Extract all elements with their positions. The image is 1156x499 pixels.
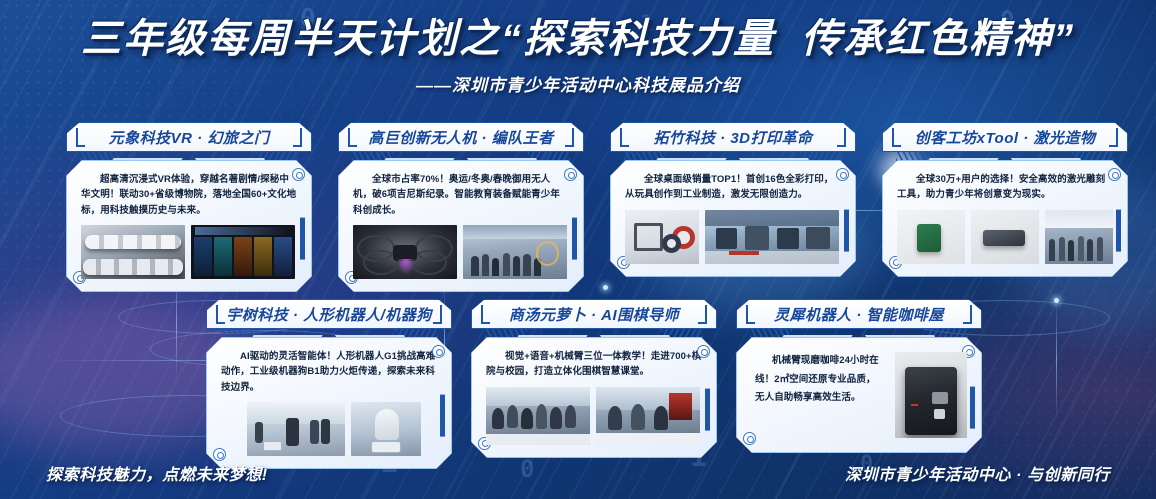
decor-tick (970, 387, 975, 429)
card-tuozhu-3dprint[interactable]: 拓竹科技 · 3D打印革命 全球桌面级销量TOP1！首创16色全彩打印，从玩具创… (610, 122, 856, 277)
card-body: 视觉+语音+机械臂三位一体教学！走进700+棋院与校园，打造立体化围棋智慧课堂。 (471, 337, 717, 458)
card-body: AI驱动的灵活智能体！人形机器人G1挑战高难动作，工业级机器狗B1助力火炬传递，… (206, 337, 452, 469)
card-description: AI驱动的灵活智能体！人形机器人G1挑战高难动作，工业级机器狗B1助力火炬传递，… (221, 349, 437, 395)
photo-xtool-expo-crowd (1045, 210, 1113, 264)
card-title: 高巨创新无人机 · 编队王者 (342, 127, 579, 148)
card-description: 全球桌面级销量TOP1！首创16色全彩打印，从玩具创作到工业制造，激发无限创造力… (625, 172, 841, 203)
decor-tick (844, 210, 849, 252)
card-photos (897, 210, 1113, 264)
photo-3d-print-lab (705, 210, 839, 264)
photo-humanoid-robot-demo (247, 402, 345, 456)
footer-slogan-left: 探索科技魅力，点燃未来梦想! (46, 461, 268, 485)
card-title: 灵犀机器人 · 智能咖啡屋 (748, 304, 970, 325)
card-photos (221, 402, 437, 456)
card-header: 高巨创新无人机 · 编队王者 (338, 122, 584, 152)
decor-tick (1116, 210, 1121, 252)
card-yushu-robot[interactable]: 宇树科技 · 人形机器人/机器狗 AI驱动的灵活智能体！人形机器人G1挑战高难动… (206, 299, 452, 469)
decor-ring-icon (432, 345, 445, 358)
card-body: 全球市占率70%！奥运/冬奥/春晚御用无人机，破6项吉尼斯纪录。智能教育装备赋能… (338, 160, 584, 292)
page-title-part1: 三年级每周半天计划之“探索科技力量 (81, 17, 775, 61)
card-gaoju-drone[interactable]: 高巨创新无人机 · 编队王者 全球市占率70%！奥运/冬奥/春晚御用无人机，破6… (338, 122, 584, 292)
card-shangtang-go[interactable]: 商汤元萝卜 · AI围棋导师 视觉+语音+机械臂三位一体教学！走进700+棋院与… (471, 299, 717, 458)
decor-ring-icon (743, 432, 756, 445)
decor-tick (705, 389, 710, 431)
decor-ring-icon (564, 168, 577, 181)
page-title-part2: 传承红色精神” (801, 17, 1075, 61)
decor-tick (300, 218, 305, 260)
poster-canvas: 0 1 0 1 0 1 0 三年级每周半天计划之“探索科技力量传承红色精神” —… (0, 0, 1156, 499)
card-header: 拓竹科技 · 3D打印革命 (610, 122, 856, 152)
page-subtitle: ——深圳市青少年活动中心科技展品介绍 (0, 71, 1156, 96)
card-header: 元象科技VR · 幻旅之门 (66, 122, 312, 152)
card-body: 全球桌面级销量TOP1！首创16色全彩打印，从玩具创作到工业制造，激发无限创造力… (610, 160, 856, 277)
card-description: 全球30万+用户的选择！安全高效的激光雕刻工具，助力青少年将创意变为现实。 (897, 172, 1113, 203)
card-body: 超高清沉浸式VR体验，穿越名著剧情/探秘中华文明！联动30+省级博物院，落地全国… (66, 160, 312, 292)
card-title: 创客工坊xTool · 激光造物 (889, 127, 1122, 148)
card-photos (81, 225, 297, 279)
decor-ring-icon (213, 448, 226, 461)
photo-go-class-students (486, 387, 590, 445)
card-description: 超高清沉浸式VR体验，穿越名著剧情/探秘中华文明！联动30+省级博物院，落地全国… (81, 172, 297, 218)
card-photos (625, 210, 841, 264)
card-title: 元象科技VR · 幻旅之门 (83, 127, 296, 148)
card-yuanxiang-vr[interactable]: 元象科技VR · 幻旅之门 超高清沉浸式VR体验，穿越名著剧情/探秘中华文明！联… (66, 122, 312, 292)
decor-ring-icon (836, 168, 849, 181)
card-description: 机械臂现磨咖啡24小时在线！2㎡空间还原专业品质，无人自助畅享高效生活。 (755, 352, 885, 408)
poster-header: 三年级每周半天计划之“探索科技力量传承红色精神” ——深圳市青少年活动中心科技展… (0, 16, 1156, 96)
photo-coffee-robot-kiosk (895, 352, 967, 438)
card-photos (353, 225, 569, 279)
card-body: 机械臂现磨咖啡24小时在线！2㎡空间还原专业品质，无人自助畅享高效生活。 (736, 337, 982, 453)
decor-tick (440, 395, 445, 437)
photo-drone-closeup (353, 225, 457, 279)
photo-xtool-black-machine (971, 210, 1039, 264)
photo-drone-exhibition-crowd (463, 225, 567, 279)
photo-robot-dog-astronaut (351, 402, 421, 456)
card-header: 灵犀机器人 · 智能咖啡屋 (736, 299, 982, 329)
photo-3d-printer-filament (625, 210, 699, 264)
card-title: 宇树科技 · 人形机器人/机器狗 (200, 304, 458, 325)
card-header: 商汤元萝卜 · AI围棋导师 (471, 299, 717, 329)
card-body: 全球30万+用户的选择！安全高效的激光雕刻工具，助力青少年将创意变为现实。 (882, 160, 1128, 277)
photo-go-robot-arm-demo (596, 387, 700, 445)
decor-ring-icon (292, 168, 305, 181)
decor-ring-icon (697, 345, 710, 358)
card-description: 视觉+语音+机械臂三位一体教学！走进700+棋院与校园，打造立体化围棋智慧课堂。 (486, 349, 702, 380)
decor-ring-icon (1108, 168, 1121, 181)
photo-vr-content-posters (191, 225, 295, 279)
card-photos (486, 387, 702, 445)
page-title: 三年级每周半天计划之“探索科技力量传承红色精神” (0, 16, 1156, 63)
footer-org-right: 深圳市青少年活动中心 · 与创新同行 (845, 461, 1110, 485)
card-description: 全球市占率70%！奥运/冬奥/春晚御用无人机，破6项吉尼斯纪录。智能教育装备赋能… (353, 172, 569, 218)
photo-vr-headset-shelf (81, 225, 185, 279)
photo-xtool-green-machine (897, 210, 965, 264)
card-title: 拓竹科技 · 3D打印革命 (627, 127, 838, 148)
decor-tick (572, 218, 577, 260)
card-title: 商汤元萝卜 · AI围棋导师 (483, 304, 705, 325)
card-header: 宇树科技 · 人形机器人/机器狗 (206, 299, 452, 329)
card-header: 创客工坊xTool · 激光造物 (882, 122, 1128, 152)
card-xtool-laser[interactable]: 创客工坊xTool · 激光造物 全球30万+用户的选择！安全高效的激光雕刻工具… (882, 122, 1128, 277)
card-lingxi-coffee[interactable]: 灵犀机器人 · 智能咖啡屋 机械臂现磨咖啡24小时在线！2㎡空间还原专业品质，无… (736, 299, 982, 453)
